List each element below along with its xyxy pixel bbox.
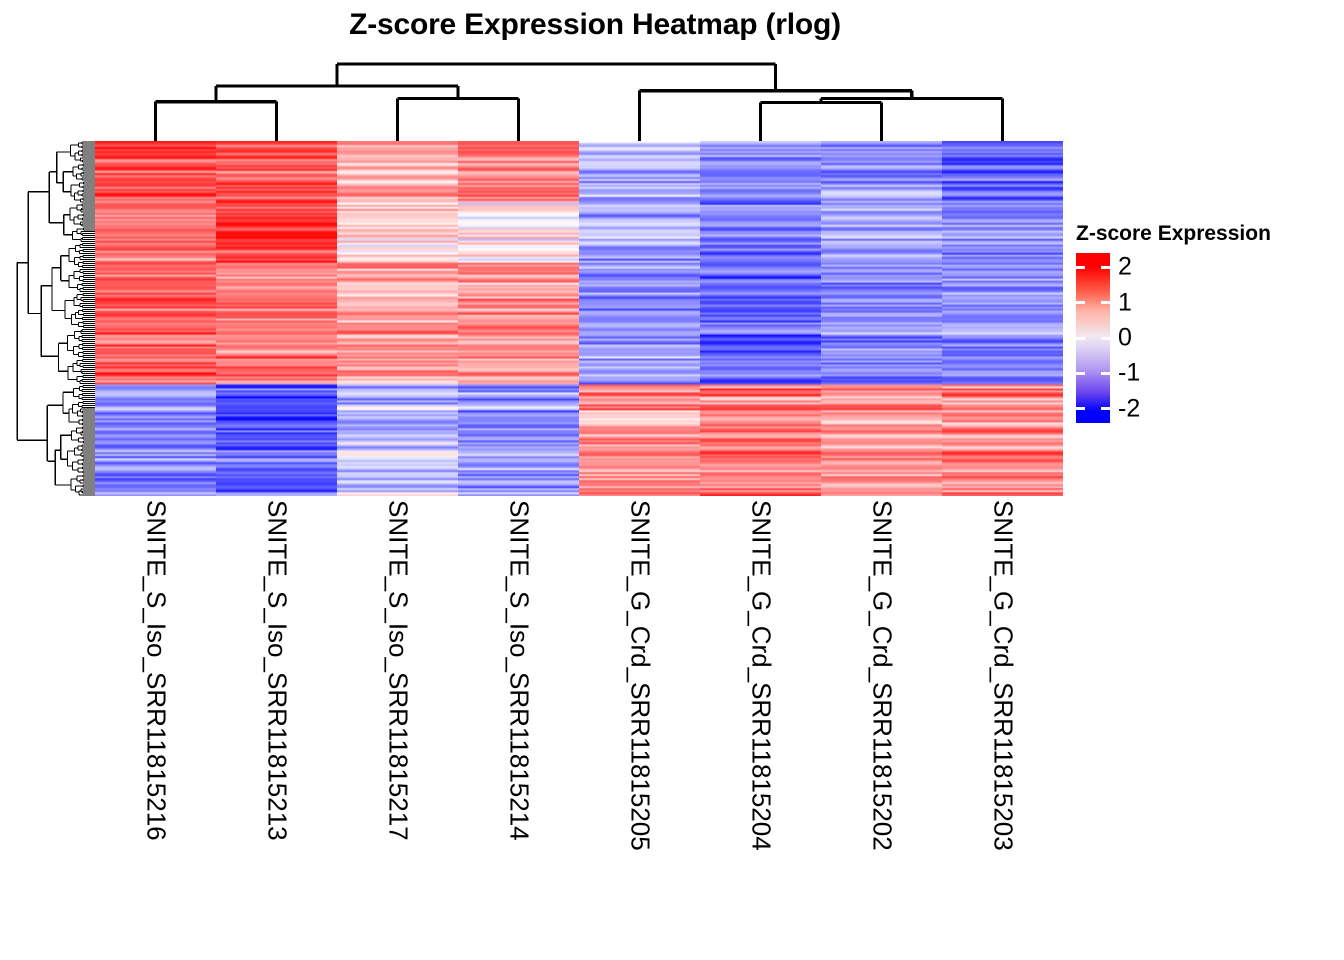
- column-label: SNITE_S_Iso_SRR11815217: [382, 500, 413, 841]
- colorbar-tick: [1101, 337, 1110, 340]
- column-label-slot: SNITE_S_Iso_SRR11815213: [216, 500, 337, 930]
- heatmap-column: [216, 141, 337, 496]
- colorbar-tick-label: 0: [1118, 326, 1132, 351]
- heatmap-column-cells: [942, 141, 1063, 496]
- column-label: SNITE_G_Crd_SRR11815205: [624, 500, 655, 851]
- heatmap-column: [700, 141, 821, 496]
- colorbar-tick: [1076, 337, 1085, 340]
- heatmap-column-cells: [700, 141, 821, 496]
- colorbar-tick-label: 1: [1118, 290, 1132, 315]
- heatmap-column: [95, 141, 216, 496]
- colorbar-tick-label: -2: [1118, 396, 1140, 421]
- heatmap-column-cells: [579, 141, 700, 496]
- colorbar-tick: [1101, 407, 1110, 410]
- column-label: SNITE_G_Crd_SRR11815204: [745, 500, 776, 851]
- heatmap-figure: Z-score Expression Heatmap (rlog) SNITE_…: [0, 0, 1344, 960]
- heatmap-column-cells: [95, 141, 216, 496]
- heatmap-column-cells: [458, 141, 579, 496]
- heatmap-column-cells: [216, 141, 337, 496]
- column-labels: SNITE_S_Iso_SRR11815216SNITE_S_Iso_SRR11…: [95, 500, 1063, 930]
- column-label-slot: SNITE_G_Crd_SRR11815204: [700, 500, 821, 930]
- heatmap-column: [942, 141, 1063, 496]
- heatmap-column: [579, 141, 700, 496]
- colorbar-tick-label: -1: [1118, 361, 1140, 386]
- column-label: SNITE_S_Iso_SRR11815214: [503, 500, 534, 841]
- column-label-slot: SNITE_G_Crd_SRR11815205: [579, 500, 700, 930]
- row-dendrogram: [16, 141, 95, 496]
- column-label-slot: SNITE_S_Iso_SRR11815216: [95, 500, 216, 930]
- page-title: Z-score Expression Heatmap (rlog): [0, 8, 1190, 42]
- column-label: SNITE_S_Iso_SRR11815216: [140, 500, 171, 841]
- column-label: SNITE_S_Iso_SRR11815213: [261, 500, 292, 841]
- colorbar-tick: [1076, 372, 1085, 375]
- heatmap-column-cells: [821, 141, 942, 496]
- heatmap-grid: [95, 141, 1063, 496]
- colorbar-tick: [1076, 301, 1085, 304]
- column-label-slot: SNITE_S_Iso_SRR11815214: [458, 500, 579, 930]
- heatmap-column: [821, 141, 942, 496]
- column-label: SNITE_G_Crd_SRR11815202: [866, 500, 897, 851]
- column-label-slot: SNITE_G_Crd_SRR11815203: [942, 500, 1063, 930]
- colorbar-tick: [1101, 372, 1110, 375]
- colorbar-tick: [1101, 266, 1110, 269]
- heatmap-column: [458, 141, 579, 496]
- legend-title: Z-score Expression: [1076, 222, 1271, 246]
- column-label-slot: SNITE_S_Iso_SRR11815217: [337, 500, 458, 930]
- colorbar-tick-label: 2: [1118, 255, 1132, 280]
- column-label: SNITE_G_Crd_SRR11815203: [987, 500, 1018, 851]
- column-label-slot: SNITE_G_Crd_SRR11815202: [821, 500, 942, 930]
- colorbar-tick: [1101, 301, 1110, 304]
- colorbar-tick: [1076, 407, 1085, 410]
- heatmap-column: [337, 141, 458, 496]
- heatmap-column-cells: [337, 141, 458, 496]
- colorbar-tick: [1076, 266, 1085, 269]
- colorbar-track: 210-1-2: [1076, 253, 1110, 423]
- column-dendrogram: [95, 58, 1063, 141]
